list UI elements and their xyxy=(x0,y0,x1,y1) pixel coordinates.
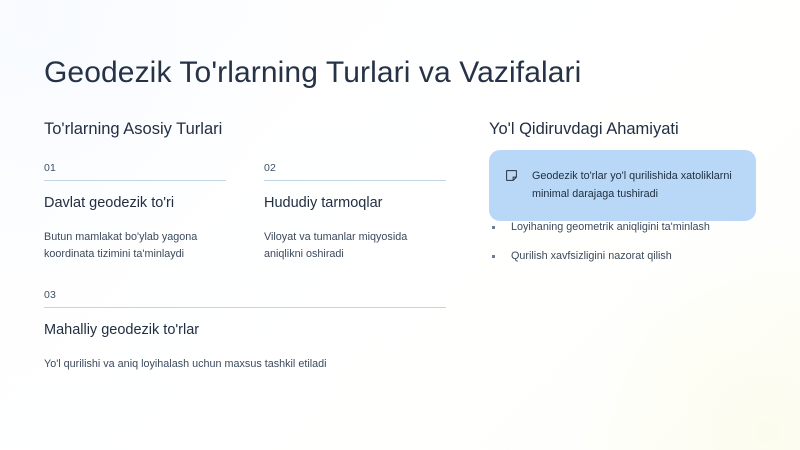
card-number: 03 xyxy=(44,289,446,307)
card-body: Butun mamlakat bo'ylab yagona koordinata… xyxy=(44,229,226,263)
card-divider xyxy=(44,307,446,308)
list-item-label: Loyihaning geometrik aniqligini ta'minla… xyxy=(511,221,710,233)
type-card-03: 03 Mahalliy geodezik to'rlar Yo'l qurili… xyxy=(44,289,446,373)
callout-text: Geodezik to'rlar yo'l qurilishida xatoli… xyxy=(532,167,738,203)
cards-row-top: 01 Davlat geodezik to'ri Butun mamlakat … xyxy=(44,162,448,263)
bullet-icon xyxy=(492,255,495,258)
highlight-callout: Geodezik to'rlar yo'l qurilishida xatoli… xyxy=(489,150,756,221)
right-column-heading: Yo'l Qidiruvdagi Ahamiyati xyxy=(489,118,769,140)
card-number: 01 xyxy=(44,162,226,180)
card-title: Davlat geodezik to'ri xyxy=(44,194,226,213)
bullet-icon xyxy=(492,226,495,229)
type-card-02: 02 Hududiy tarmoqlar Viloyat va tumanlar… xyxy=(264,162,446,263)
card-title: Mahalliy geodezik to'rlar xyxy=(44,321,446,340)
type-card-01: 01 Davlat geodezik to'ri Butun mamlakat … xyxy=(44,162,226,263)
card-number: 02 xyxy=(264,162,446,180)
left-column: To'rlarning Asosiy Turlari 01 Davlat geo… xyxy=(44,118,448,373)
list-item: Loyihaning geometrik aniqligini ta'minla… xyxy=(489,220,769,235)
card-divider xyxy=(44,180,226,181)
list-item-label: Qurilish xavfsizligini nazorat qilish xyxy=(511,250,672,262)
page-title: Geodezik To'rlarning Turlari va Vazifala… xyxy=(44,54,581,92)
card-divider xyxy=(264,180,446,181)
cards-row-bottom: 03 Mahalliy geodezik to'rlar Yo'l qurili… xyxy=(44,289,448,373)
card-title: Hududiy tarmoqlar xyxy=(264,194,446,213)
list-item: Qurilish xavfsizligini nazorat qilish xyxy=(489,249,769,264)
card-body: Viloyat va tumanlar miqyosida aniqlikni … xyxy=(264,229,446,263)
slide-canvas: Geodezik To'rlarning Turlari va Vazifala… xyxy=(0,0,800,450)
card-body: Yo'l qurilishi va aniq loyihalash uchun … xyxy=(44,356,446,373)
left-column-heading: To'rlarning Asosiy Turlari xyxy=(44,118,448,140)
note-icon xyxy=(505,169,518,182)
